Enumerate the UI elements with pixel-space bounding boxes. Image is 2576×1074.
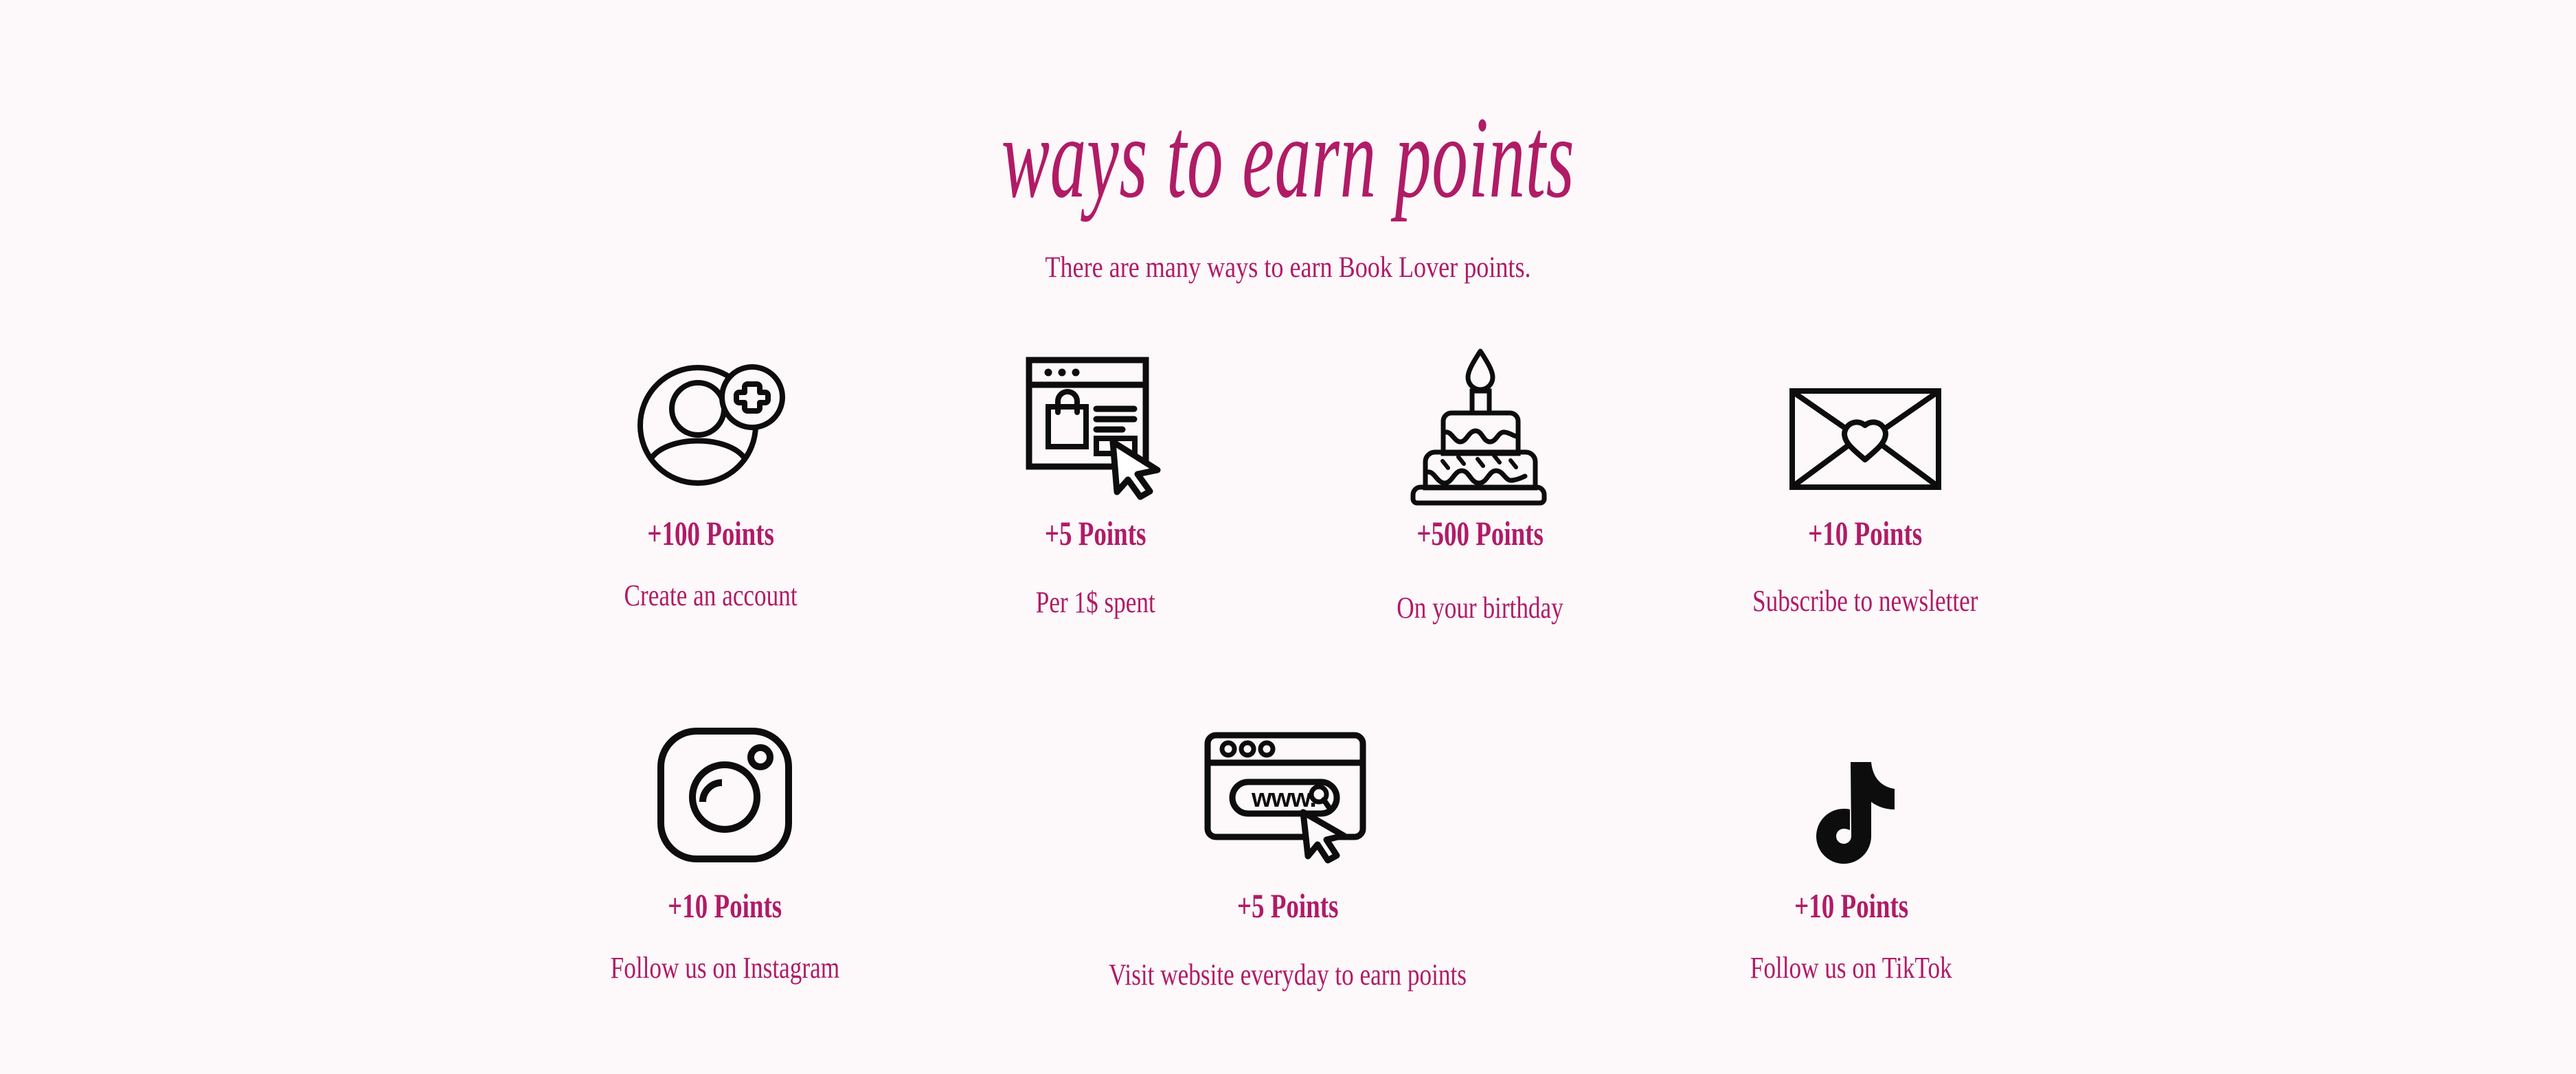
reward-points-label: +100 Points (648, 516, 775, 550)
rewards-row-2: +10 Points Follow us on Instagram www. (0, 695, 2576, 990)
reward-points-label: +10 Points (1808, 516, 1922, 550)
reward-card-tiktok[interactable]: +10 Points Follow us on TikTok (1570, 695, 2133, 990)
tiktok-icon (1807, 761, 1896, 864)
reward-points-label: +5 Points (1045, 516, 1146, 550)
reward-card-birthday[interactable]: +500 Points On your birthday (1288, 323, 1673, 623)
reward-icon-wrap (1022, 323, 1170, 491)
rewards-page: ways to earn points There are many ways … (0, 0, 2576, 1074)
reward-description: Per 1$ spent (1036, 588, 1155, 618)
browser-www-search-icon: www. (1202, 730, 1374, 864)
page-subtitle: There are many ways to earn Book Lover p… (206, 251, 2370, 284)
reward-description: Visit website everyday to earn points (1109, 960, 1467, 990)
reward-points-label: +10 Points (668, 888, 782, 923)
reward-icon-wrap: www. (1202, 695, 1374, 864)
reward-icon-wrap (1807, 695, 1896, 864)
reward-icon-wrap (637, 323, 785, 491)
reward-points-label: +5 Points (1237, 888, 1339, 923)
instagram-icon (656, 726, 793, 864)
reward-card-per-dollar-spent[interactable]: +5 Points Per 1$ spent (903, 323, 1288, 623)
reward-description: Follow us on TikTok (1750, 953, 1952, 983)
reward-card-create-account[interactable]: +100 Points Create an account (519, 323, 903, 623)
reward-description: Subscribe to newsletter (1752, 586, 1978, 616)
reward-card-newsletter[interactable]: +10 Points Subscribe to newsletter (1673, 323, 2057, 623)
reward-description: On your birthday (1397, 593, 1563, 623)
page-header: ways to earn points There are many ways … (0, 96, 2576, 284)
reward-icon-wrap (1788, 323, 1943, 491)
envelope-heart-icon (1788, 387, 1943, 491)
page-title: ways to earn points (490, 96, 2087, 219)
birthday-cake-icon (1417, 347, 1544, 491)
user-add-icon (637, 354, 785, 491)
reward-description: Follow us on Instagram (610, 953, 839, 983)
reward-icon-wrap (656, 695, 793, 864)
reward-icon-wrap (1417, 323, 1544, 491)
online-shopping-window-icon (1022, 350, 1170, 491)
rewards-row-1: +100 Points Create an account (0, 323, 2576, 623)
reward-description: Create an account (624, 581, 798, 611)
reward-card-visit-website[interactable]: www. +5 Points Visit website everyday to… (1006, 695, 1570, 990)
reward-points-label: +10 Points (1794, 888, 1908, 923)
svg-text:www.: www. (1251, 784, 1316, 813)
reward-card-instagram[interactable]: +10 Points Follow us on Instagram (443, 695, 1006, 990)
reward-points-label: +500 Points (1417, 516, 1544, 550)
